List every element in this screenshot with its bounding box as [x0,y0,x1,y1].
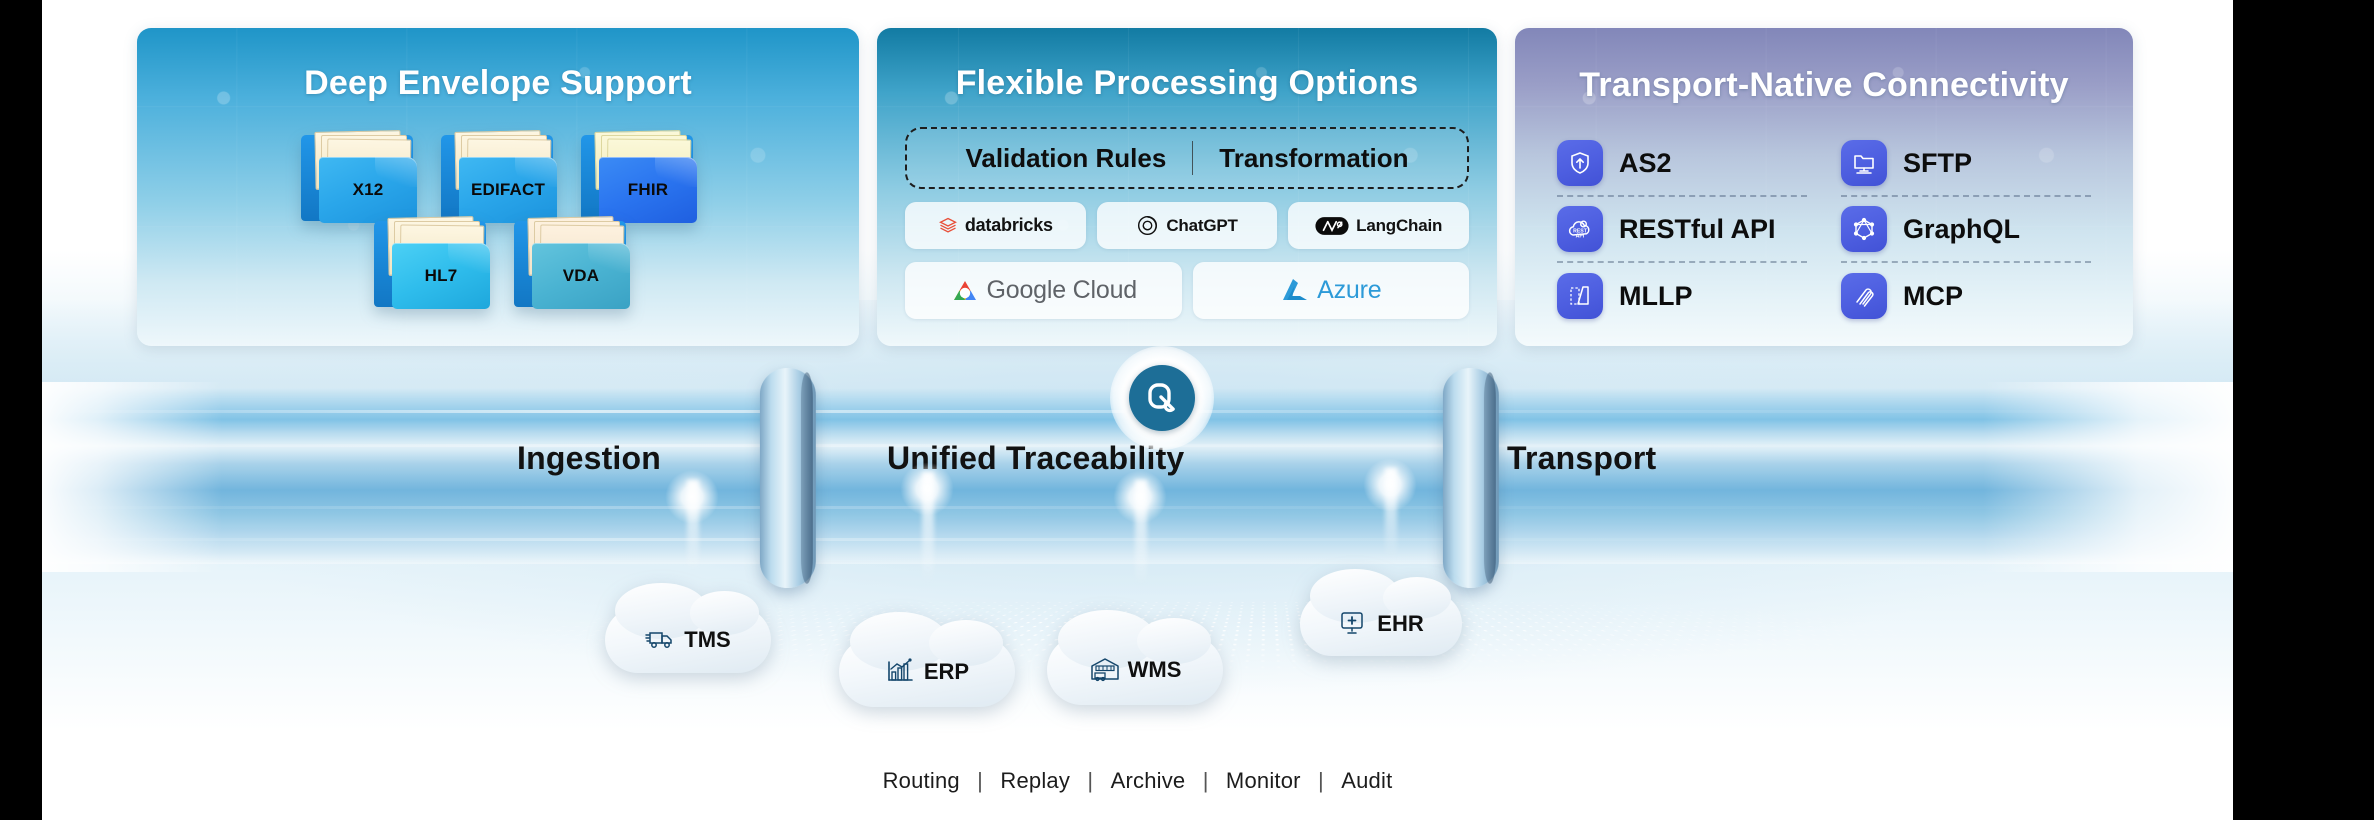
folder-label: HL7 [392,243,490,309]
svg-text:API: API [1576,234,1585,240]
connector-mllp[interactable]: MLLP [1557,263,1807,329]
warehouse-icon [1089,655,1119,685]
center-badge [1110,346,1214,450]
connector-grid: AS2 SFTP [1557,131,2091,329]
footer-item-replay[interactable]: Replay [996,768,1074,793]
logo-label: LangChain [1356,216,1442,236]
diagram-canvas: Deep Envelope Support X12 [42,0,2233,820]
pipeline-stage-transport: Transport [1507,440,1656,477]
langchain-icon [1315,216,1349,236]
footer-capabilities: Routing | Replay | Archive | Monitor | A… [42,768,2233,794]
logo-label: Google Cloud [987,276,1137,305]
logo-row-2: Google Cloud Azure [905,262,1469,319]
folder-label: EDIFACT [459,157,557,223]
mode-divider [1192,141,1193,175]
footer-item-routing[interactable]: Routing [879,768,964,793]
document-flow-icon [1557,273,1603,319]
footer-item-archive[interactable]: Archive [1107,768,1190,793]
flare-erp [900,462,954,516]
rest-api-cloud-icon: REST API [1557,206,1603,252]
folder-group: X12 EDIFACT FHIR [137,129,859,311]
pipe-fade-left [42,382,222,572]
connector-sftp[interactable]: SFTP [1841,131,2091,197]
connector-label: RESTful API [1619,214,1776,245]
logo-card-azure[interactable]: Azure [1193,262,1470,319]
footer-separator: | [1080,768,1100,793]
connector-graphql[interactable]: GraphQL [1841,197,2091,263]
cloud-tms[interactable]: TMS [605,607,771,673]
flare-tms [665,470,719,524]
logo-row-1: databricks ChatGPT [905,202,1469,249]
footer-separator: | [970,768,990,793]
connector-label: SFTP [1903,148,1972,179]
panel-deep-envelope-support: Deep Envelope Support X12 [137,28,859,346]
link-logo-icon [1129,365,1195,431]
databricks-icon [938,216,958,236]
logo-card-databricks[interactable]: databricks [905,202,1086,249]
folder-row-2: HL7 VDA [143,215,859,311]
connector-as2[interactable]: AS2 [1557,131,1807,197]
cloud-erp[interactable]: ERP [839,637,1015,707]
connector-restful-api[interactable]: REST API RESTful API [1557,197,1807,263]
diagram-root: Deep Envelope Support X12 [0,0,2374,820]
logo-card-google-cloud[interactable]: Google Cloud [905,262,1182,319]
folder-edifact[interactable]: EDIFACT [435,129,561,225]
folder-label: FHIR [599,157,697,223]
panel-transport-native-connectivity: Transport-Native Connectivity AS2 [1515,28,2133,346]
panel-title-flexible-processing-options: Flexible Processing Options [877,28,1497,103]
google-cloud-icon [950,278,980,304]
connector-label: MLLP [1619,281,1693,312]
cloud-label: TMS [684,627,730,653]
footer-separator: | [1196,768,1216,793]
folder-label: X12 [319,157,417,223]
logo-card-langchain[interactable]: LangChain [1288,202,1469,249]
folder-fhir[interactable]: FHIR [575,129,701,225]
logo-label: databricks [965,215,1053,236]
medical-monitor-icon [1338,609,1368,639]
pipe-flange-right [1443,367,1499,588]
logo-card-chatgpt[interactable]: ChatGPT [1097,202,1278,249]
folder-x12[interactable]: X12 [295,129,421,225]
shield-upload-icon [1557,140,1603,186]
cloud-label: WMS [1128,657,1182,683]
mode-transformation[interactable]: Transformation [1193,143,1434,174]
folder-label: VDA [532,243,630,309]
cloud-label: ERP [924,659,969,685]
connector-label: AS2 [1619,148,1672,179]
pipe-fade-right [1983,382,2233,572]
openai-icon [1136,214,1159,237]
folder-row-1: X12 EDIFACT FHIR [137,129,859,225]
graphql-icon [1841,206,1887,252]
footer-item-monitor[interactable]: Monitor [1222,768,1305,793]
flare-ehr [1363,458,1417,512]
feature-panels: Deep Envelope Support X12 [137,28,2135,346]
folder-network-icon [1841,140,1887,186]
mcp-icon [1841,273,1887,319]
connector-mcp[interactable]: MCP [1841,263,2091,329]
bar-chart-icon [885,657,915,687]
footer-separator: | [1311,768,1331,793]
azure-icon [1280,277,1310,305]
pipe-flange-left [760,367,816,588]
folder-hl7[interactable]: HL7 [368,215,494,311]
folder-vda[interactable]: VDA [508,215,634,311]
pipeline-stage-ingestion: Ingestion [517,440,661,477]
logo-label: Azure [1317,276,1381,305]
panel-title-deep-envelope-support: Deep Envelope Support [137,28,859,103]
panel-flexible-processing-options: Flexible Processing Options Validation R… [877,28,1497,346]
flare-wms [1113,470,1167,524]
connector-label: GraphQL [1903,214,2020,245]
logo-label: ChatGPT [1166,216,1237,236]
cloud-wms[interactable]: WMS [1047,635,1223,705]
mode-validation-rules[interactable]: Validation Rules [939,143,1192,174]
cloud-label: EHR [1377,611,1423,637]
cloud-ehr[interactable]: EHR [1300,592,1462,656]
panel-title-transport-native-connectivity: Transport-Native Connectivity [1515,28,2133,105]
connector-label: MCP [1903,281,1963,312]
truck-icon [645,625,675,655]
footer-item-audit[interactable]: Audit [1337,768,1396,793]
processing-body: Validation Rules Transformation [877,127,1497,319]
processing-modes-box: Validation Rules Transformation [905,127,1469,189]
